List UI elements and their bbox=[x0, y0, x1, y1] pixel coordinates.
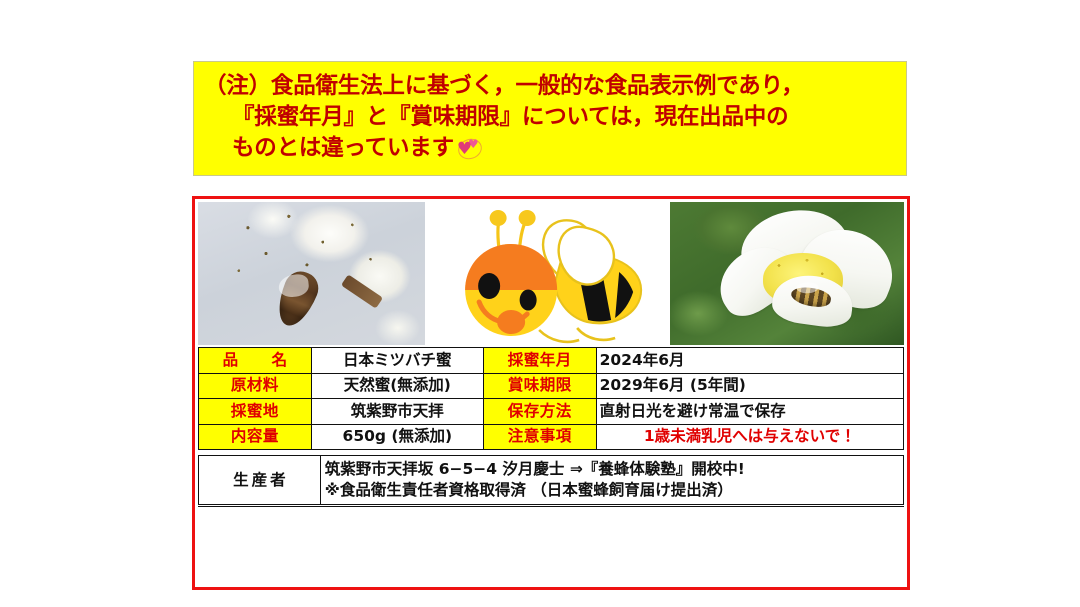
notice-line-1: （注）食品衛生法上に基づく，一般的な食品表示例であり， bbox=[204, 71, 898, 102]
producer-line-1: 筑紫野市天拝坂 6−5−4 汐月慶士 ⇒『養蜂体験塾』開校中! bbox=[325, 459, 899, 480]
notice-banner: （注）食品衛生法上に基づく，一般的な食品表示例であり， 『採蜜年月』と『賞味期限… bbox=[193, 61, 907, 176]
cartoon-bee-illustration bbox=[425, 202, 669, 345]
table-row: 生産者 筑紫野市天拝坂 6−5−4 汐月慶士 ⇒『養蜂体験塾』開校中! ※食品衛… bbox=[199, 456, 904, 505]
value-harvest-place: 筑紫野市天拝 bbox=[311, 399, 483, 425]
blossom-stamen-detail bbox=[198, 202, 425, 345]
label-net-weight: 内容量 bbox=[199, 424, 312, 450]
product-label-card: 品 名 日本ミツバチ蜜 採蜜年月 2024年6月 原材料 天然蜜(無添加) 賞味… bbox=[192, 196, 910, 590]
cartoon-bee-svg bbox=[425, 202, 669, 345]
table-row: 採蜜地 筑紫野市天拝 保存方法 直射日光を避け常温で保存 bbox=[199, 399, 904, 425]
producer-line-2: ※食品衛生責任者資格取得済 （日本蜜蜂飼育届け提出済） bbox=[325, 480, 899, 501]
label-product-name: 品 名 bbox=[199, 348, 312, 374]
value-ingredients: 天然蜜(無添加) bbox=[311, 373, 483, 399]
label-storage-method: 保存方法 bbox=[483, 399, 596, 425]
value-best-before: 2029年6月 (5年間) bbox=[596, 373, 903, 399]
notice-line-2: 『採蜜年月』と『賞味期限』については，現在出品中の bbox=[204, 102, 898, 133]
label-best-before: 賞味期限 bbox=[483, 373, 596, 399]
producer-table: 生産者 筑紫野市天拝坂 6−5−4 汐月慶士 ⇒『養蜂体験塾』開校中! ※食品衛… bbox=[198, 455, 904, 505]
value-net-weight: 650g (無添加) bbox=[311, 424, 483, 450]
label-ingredients: 原材料 bbox=[199, 373, 312, 399]
table-row: 原材料 天然蜜(無添加) 賞味期限 2029年6月 (5年間) bbox=[199, 373, 904, 399]
value-harvest-date: 2024年6月 bbox=[596, 348, 903, 374]
notice-line-3-wrapper: ものとは違っています♥♥ bbox=[204, 133, 898, 164]
honeybee-on-white-blossom-photo bbox=[198, 202, 425, 345]
photo-strip bbox=[198, 202, 904, 345]
table-row: 内容量 650g (無添加) 注意事項 1歳未満乳児へは与えないで！ bbox=[199, 424, 904, 450]
two-hearts-icon: ♥♥ bbox=[455, 137, 483, 159]
value-product-name: 日本ミツバチ蜜 bbox=[311, 348, 483, 374]
notice-line-3: ものとは違っています bbox=[232, 135, 454, 161]
value-producer: 筑紫野市天拝坂 6−5−4 汐月慶士 ⇒『養蜂体験塾』開校中! ※食品衛生責任者… bbox=[320, 456, 903, 505]
product-info-table: 品 名 日本ミツバチ蜜 採蜜年月 2024年6月 原材料 天然蜜(無添加) 賞味… bbox=[198, 347, 904, 450]
label-producer: 生産者 bbox=[199, 456, 321, 505]
table-row: 品 名 日本ミツバチ蜜 採蜜年月 2024年6月 bbox=[199, 348, 904, 374]
value-caution: 1歳未満乳児へは与えないで！ bbox=[596, 424, 903, 450]
label-harvest-date: 採蜜年月 bbox=[483, 348, 596, 374]
label-harvest-place: 採蜜地 bbox=[199, 399, 312, 425]
label-caution: 注意事項 bbox=[483, 424, 596, 450]
bee-on-tea-flower-photo bbox=[670, 202, 904, 345]
bottom-divider bbox=[198, 506, 904, 510]
value-storage-method: 直射日光を避け常温で保存 bbox=[596, 399, 903, 425]
